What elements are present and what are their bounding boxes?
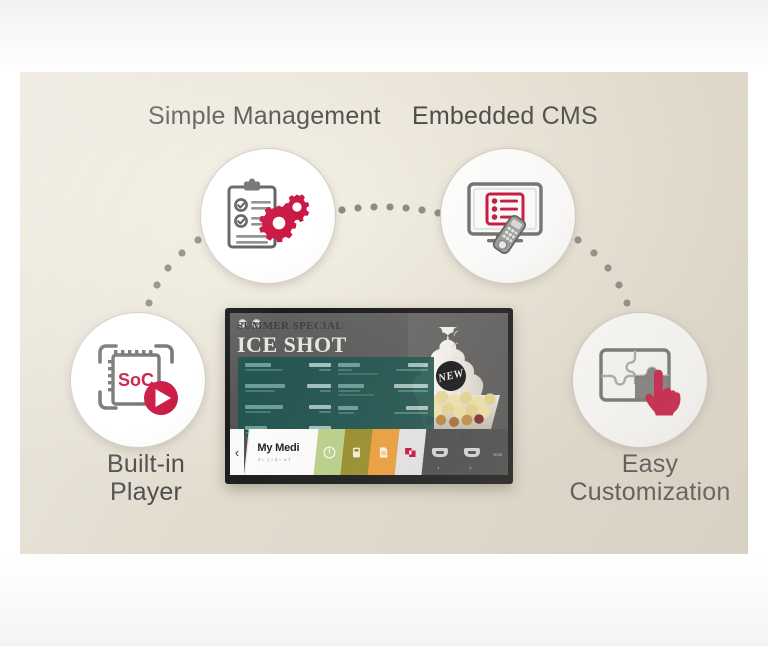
node-label-simple-management: Simple Management (148, 102, 381, 130)
node-label-line1: Easy (548, 450, 748, 478)
launcher-trailing-label: RGB (493, 452, 502, 457)
menu-item (245, 363, 331, 377)
hdmi-2-label: 2 (469, 465, 471, 470)
launcher-card-subtitle: ㅌㄴ ㅏㅅㅔㅅ ㅠㅕ (257, 457, 299, 463)
chevron-left-icon: ‹ (235, 446, 239, 459)
launcher-back-button[interactable]: ‹ (230, 429, 244, 475)
file-icon (377, 446, 390, 459)
diagram-stage: Simple Management Embedded CMS Built-in … (20, 72, 748, 554)
node-label-line1: Built-in (82, 450, 210, 478)
menu-item (245, 405, 331, 419)
menu-item (338, 384, 428, 398)
top-gradient-band (0, 0, 768, 72)
node-built-in-player[interactable]: SoC (70, 312, 206, 448)
page-root: Simple Management Embedded CMS Built-in … (0, 0, 768, 646)
clipboard-gears-icon (225, 179, 311, 253)
launcher-tile-hdmi-2[interactable]: 2 (454, 429, 491, 475)
menu-column (338, 363, 428, 427)
signage-title: ICE SHOT (237, 333, 347, 356)
power-icon (323, 446, 336, 459)
signage-eyebrow: SUMMER SPECIAL (237, 321, 347, 332)
hdmi-icon (432, 448, 448, 457)
menu-item (338, 406, 428, 420)
node-label-line2: Customization (548, 478, 748, 506)
launcher-card-title: My Medi (257, 442, 299, 454)
menu-item (338, 363, 428, 377)
launcher-tile-hdmi-1[interactable]: 1 (422, 429, 459, 475)
connector-management-to-cms (320, 197, 452, 223)
monitor-remote-list-icon (463, 178, 553, 254)
node-label-built-in-player: Built-in Player (82, 450, 210, 506)
bottom-gradient-band (0, 554, 768, 646)
signage-launcher-bar: ‹ My Medi ㅌㄴ ㅏㅅㅔㅅ ㅠㅕ (230, 429, 508, 475)
lg-logo-icon (404, 446, 417, 459)
launcher-active-card[interactable]: My Medi ㅌㄴ ㅏㅅㅔㅅ ㅠㅕ (244, 429, 321, 475)
new-badge-text: NEW (437, 367, 465, 385)
launcher-tile-rgb[interactable]: RGB (486, 429, 508, 475)
hdmi-1-label: 1 (437, 465, 439, 470)
signage-heading-block: SUMMER SPECIAL ICE SHOT (237, 321, 347, 356)
signage-display-device: SUMMER SPECIAL ICE SHOT 12 01 am JAN 2 (225, 308, 513, 484)
node-label-line2: Player (82, 478, 210, 506)
node-simple-management[interactable] (200, 148, 336, 284)
node-embedded-cms[interactable] (440, 148, 576, 284)
node-label-easy-customization: Easy Customization (548, 450, 748, 506)
soc-chip-play-icon: SoC (94, 340, 182, 420)
hdmi-icon (464, 448, 480, 457)
node-easy-customization[interactable] (572, 312, 708, 448)
menu-item (245, 384, 331, 398)
signage-menu-board (238, 357, 434, 435)
puzzle-hand-icon (595, 342, 685, 418)
node-label-embedded-cms: Embedded CMS (412, 102, 598, 130)
usb-icon (350, 446, 363, 459)
signage-screen[interactable]: SUMMER SPECIAL ICE SHOT 12 01 am JAN 2 (230, 313, 508, 475)
